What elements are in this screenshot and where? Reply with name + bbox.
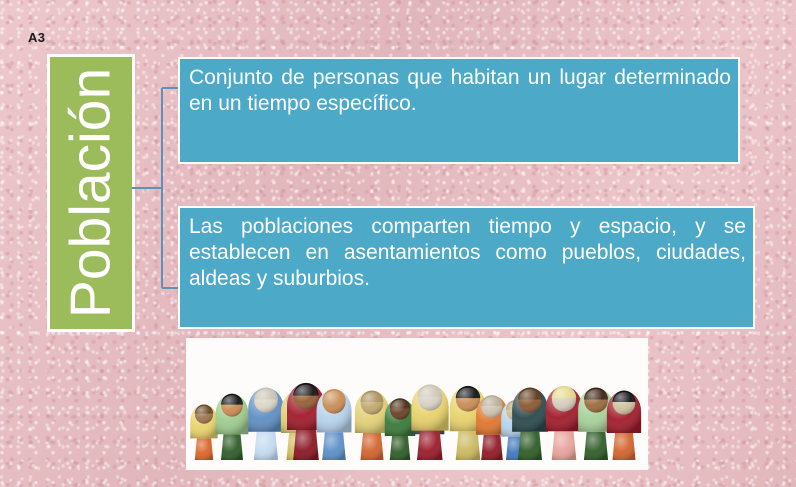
slide-label: A3 [28,31,45,44]
content-box-characteristics-text: Las poblaciones comparten tiempo y espac… [189,214,746,291]
figure-legs [360,433,383,460]
content-box-definition: Conjunto de personas que habitan un luga… [178,57,740,164]
content-box-definition-text: Conjunto de personas que habitan un luga… [189,65,731,117]
figure-legs [612,433,635,460]
figure-legs [417,431,442,460]
content-box-characteristics: Las poblaciones comparten tiempo y espac… [178,206,755,329]
figure-legs [195,438,213,460]
figure-legs [221,434,243,460]
title-block: Población [47,54,135,332]
crowd-illustration [186,338,648,470]
figure-legs [293,430,319,460]
figure-legs [481,435,503,460]
figure-legs [584,432,608,460]
figure-legs [552,431,577,460]
figure-legs [322,432,346,460]
page-title: Población [63,68,120,318]
figure-legs [390,436,410,460]
figure-legs [254,432,278,460]
crowd-illustration-svg [186,338,648,470]
figure-legs [456,431,481,460]
slide-canvas: A3 Población Conjunto de personas que ha… [0,0,796,487]
figure-legs [518,432,542,460]
